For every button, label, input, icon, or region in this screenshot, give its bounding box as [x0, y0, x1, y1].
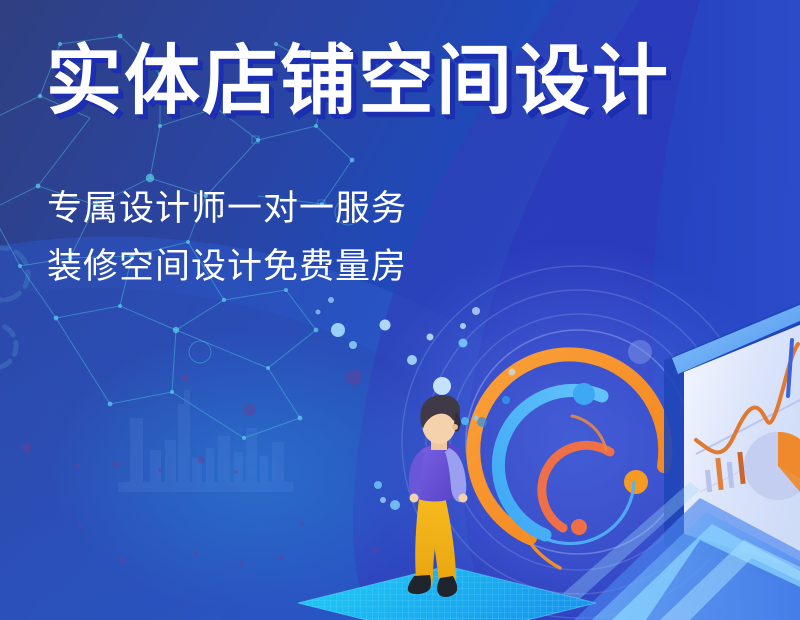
figure-and-platform: [0, 0, 800, 620]
banner-root: 实体店铺空间设计 专属设计师一对一服务 装修空间设计免费量房: [0, 0, 800, 620]
person-standing-back-view: [408, 395, 468, 597]
